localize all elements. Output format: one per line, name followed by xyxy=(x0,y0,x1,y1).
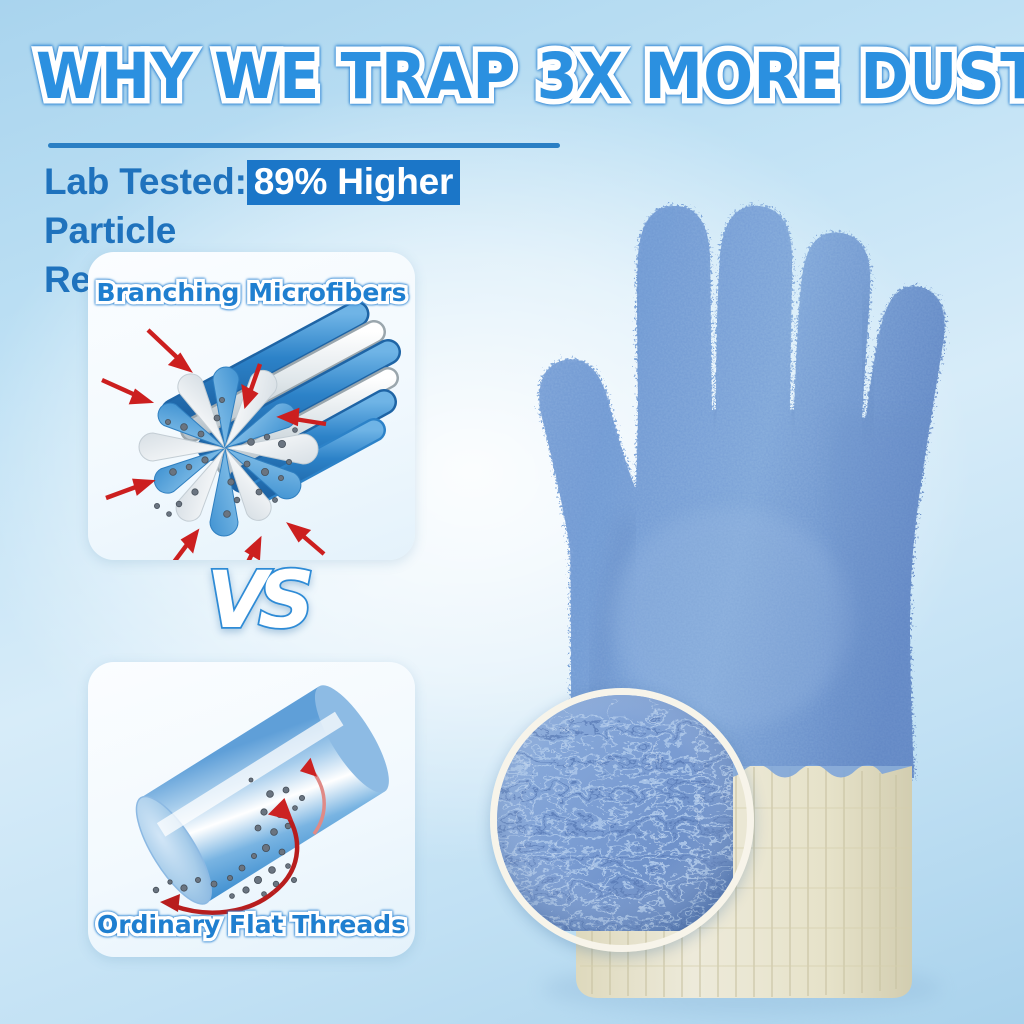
smooth-thread-cylinder xyxy=(123,676,402,914)
fiber-closeup-magnifier xyxy=(490,688,754,952)
card-bottom-label: Ordinary Flat Threads xyxy=(88,910,415,939)
versus-badge: VS xyxy=(176,556,336,646)
card-top-label: Branching Microfibers xyxy=(88,278,415,307)
subtitle-tail: Particle xyxy=(44,210,176,251)
card-ordinary-flat-threads: Ordinary Flat Threads xyxy=(88,662,415,957)
page-title: WHY WE TRAP 3X MORE DUST xyxy=(36,40,988,113)
subtitle-lead: Lab Tested: xyxy=(44,161,247,202)
stat-highlight-badge: 89% Higher xyxy=(247,160,461,205)
card-branching-microfibers: Branching Microfibers xyxy=(88,252,415,560)
infographic-canvas: WHY WE TRAP 3X MORE DUST Lab Tested:89% … xyxy=(0,0,1024,1024)
